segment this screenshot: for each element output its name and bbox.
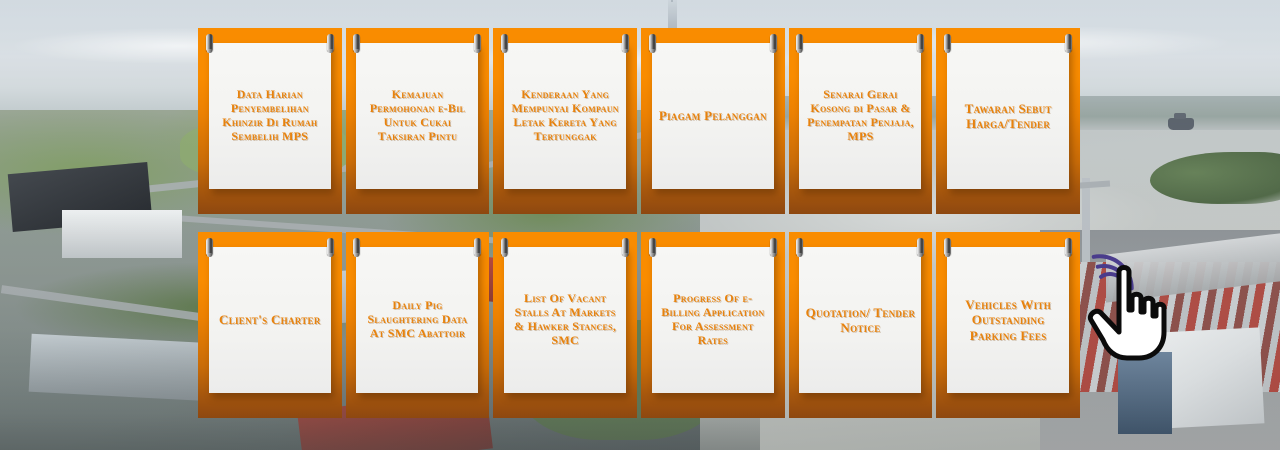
paper-sheet: Vehicles With Outstanding Parking Fees xyxy=(947,247,1069,393)
clip-icon xyxy=(1065,34,1072,51)
card-title: Senarai Gerai Kosong di Pasar & Penempat… xyxy=(804,88,916,144)
clip-icon xyxy=(501,238,508,255)
service-card-3[interactable]: Kenderaan Yang Mempunyai Kompaun Letak K… xyxy=(493,28,637,214)
clip-icon xyxy=(353,34,360,51)
paper-sheet: Tawaran Sebut Harga/Tender xyxy=(947,43,1069,189)
clip-icon xyxy=(770,34,777,51)
page-stage: Data Harian Penyembelihan Khinzir Di Rum… xyxy=(0,0,1280,450)
clip-icon xyxy=(327,238,334,255)
paper-sheet: Quotation/ Tender Notice xyxy=(799,247,921,393)
clip-icon xyxy=(206,238,213,255)
port-blue-building xyxy=(1118,352,1172,434)
clip-icon xyxy=(917,238,924,255)
service-card-9[interactable]: List Of Vacant Stalls At Markets & Hawke… xyxy=(493,232,637,418)
clip-icon xyxy=(917,34,924,51)
paper-sheet: Kenderaan Yang Mempunyai Kompaun Letak K… xyxy=(504,43,626,189)
service-card-5[interactable]: Senarai Gerai Kosong di Pasar & Penempat… xyxy=(789,28,933,214)
card-title: List Of Vacant Stalls At Markets & Hawke… xyxy=(509,292,621,348)
card-title: Progress Of e-Billing Application For As… xyxy=(657,292,769,348)
card-title: Daily Pig Slaughtering Data At SMC Abatt… xyxy=(361,299,473,341)
clip-icon xyxy=(474,238,481,255)
clip-icon xyxy=(944,34,951,51)
paper-sheet: Piagam Pelanggan xyxy=(652,43,774,189)
service-card-10[interactable]: Progress Of e-Billing Application For As… xyxy=(641,232,785,418)
card-title: Kemajuan Permohonan e-Bil Untuk Cukai Ta… xyxy=(361,88,473,144)
card-title: Tawaran Sebut Harga/Tender xyxy=(952,101,1064,132)
paper-sheet: List Of Vacant Stalls At Markets & Hawke… xyxy=(504,247,626,393)
service-card-6[interactable]: Tawaran Sebut Harga/Tender xyxy=(936,28,1080,214)
service-card-1[interactable]: Data Harian Penyembelihan Khinzir Di Rum… xyxy=(198,28,342,214)
clip-icon xyxy=(770,238,777,255)
clip-icon xyxy=(1065,238,1072,255)
clip-icon xyxy=(944,238,951,255)
clip-icon xyxy=(353,238,360,255)
clip-icon xyxy=(474,34,481,51)
clip-icon xyxy=(327,34,334,51)
paper-sheet: Kemajuan Permohonan e-Bil Untuk Cukai Ta… xyxy=(356,43,478,189)
port-crane xyxy=(1082,178,1090,262)
paper-sheet: Data Harian Penyembelihan Khinzir Di Rum… xyxy=(209,43,331,189)
clip-icon xyxy=(796,238,803,255)
paper-sheet: Client's Charter xyxy=(209,247,331,393)
white-building xyxy=(62,210,182,258)
service-card-12[interactable]: Vehicles With Outstanding Parking Fees xyxy=(936,232,1080,418)
service-card-7[interactable]: Client's Charter xyxy=(198,232,342,418)
service-card-grid: Data Harian Penyembelihan Khinzir Di Rum… xyxy=(198,28,1080,418)
card-title: Vehicles With Outstanding Parking Fees xyxy=(952,297,1064,343)
service-card-2[interactable]: Kemajuan Permohonan e-Bil Untuk Cukai Ta… xyxy=(346,28,490,214)
paper-sheet: Senarai Gerai Kosong di Pasar & Penempat… xyxy=(799,43,921,189)
service-card-11[interactable]: Quotation/ Tender Notice xyxy=(789,232,933,418)
service-card-4[interactable]: Piagam Pelanggan xyxy=(641,28,785,214)
clip-icon xyxy=(622,34,629,51)
clip-icon xyxy=(649,34,656,51)
card-title: Quotation/ Tender Notice xyxy=(804,305,916,336)
clip-icon xyxy=(501,34,508,51)
service-card-8[interactable]: Daily Pig Slaughtering Data At SMC Abatt… xyxy=(346,232,490,418)
card-title: Data Harian Penyembelihan Khinzir Di Rum… xyxy=(214,88,326,144)
card-title: Kenderaan Yang Mempunyai Kompaun Letak K… xyxy=(509,88,621,144)
clip-icon xyxy=(796,34,803,51)
card-title: Piagam Pelanggan xyxy=(659,108,767,123)
clip-icon xyxy=(206,34,213,51)
boat xyxy=(1168,118,1194,130)
clip-icon xyxy=(649,238,656,255)
paper-sheet: Daily Pig Slaughtering Data At SMC Abatt… xyxy=(356,247,478,393)
paper-sheet: Progress Of e-Billing Application For As… xyxy=(652,247,774,393)
clip-icon xyxy=(622,238,629,255)
card-title: Client's Charter xyxy=(219,312,321,327)
